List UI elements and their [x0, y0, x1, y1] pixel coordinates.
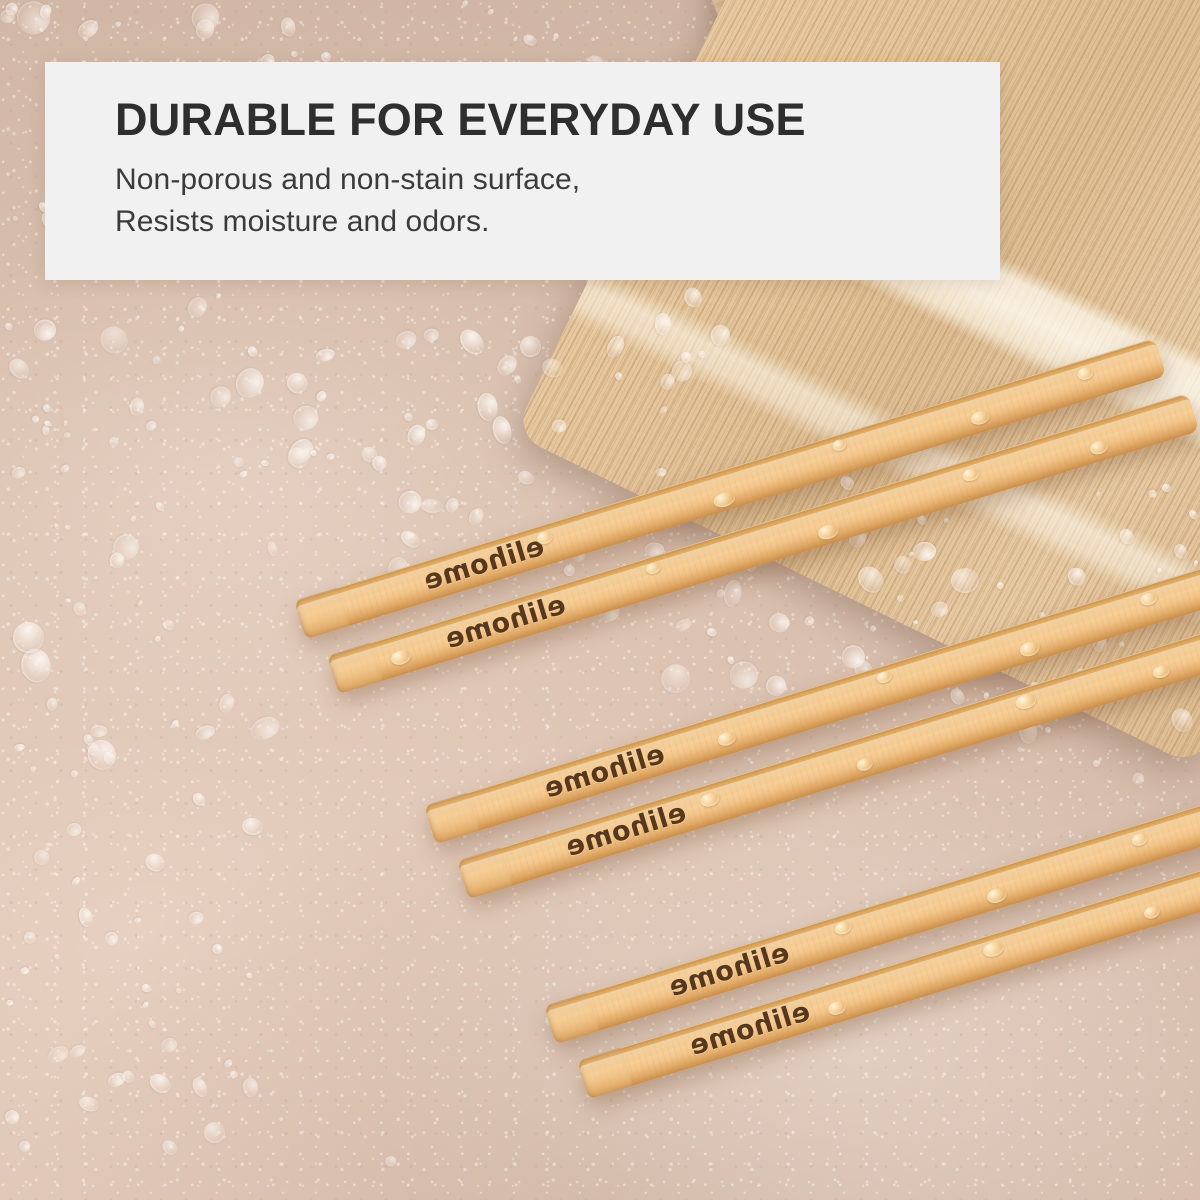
water-bead [985, 886, 1008, 905]
water-bead [969, 409, 991, 427]
water-droplet [710, 325, 729, 347]
water-bead [1151, 664, 1171, 680]
water-bead [712, 490, 737, 510]
water-bead [816, 522, 840, 542]
water-bead [716, 730, 737, 748]
water-bead [827, 999, 848, 1017]
water-bead [1088, 439, 1109, 457]
water-droplet [478, 588, 483, 594]
water-droplet [234, 457, 244, 467]
water-droplet [65, 598, 71, 602]
water-droplet [730, 661, 758, 688]
feature-description-line-1: Non-porous and non-stain surface, [115, 159, 1000, 200]
water-droplet [951, 568, 980, 593]
water-droplet [654, 312, 670, 334]
water-droplet [63, 420, 67, 426]
water-bead [855, 756, 874, 772]
water-bead [1018, 639, 1041, 658]
feature-text-panel: DURABLE FOR EVERYDAY USE Non-porous and … [45, 62, 1000, 280]
water-droplet [1017, 747, 1022, 752]
water-droplet [108, 436, 118, 447]
water-droplet [65, 524, 71, 530]
water-droplet [115, 21, 122, 26]
water-droplet [46, 697, 57, 710]
feature-description: Non-porous and non-stain surface, Resist… [115, 159, 1000, 242]
water-droplet [229, 1070, 238, 1078]
water-droplet [291, 50, 299, 57]
feature-description-line-2: Resists moisture and odors. [115, 201, 1000, 242]
product-feature-image: elihome elihome elihome elihome [0, 0, 1200, 1200]
page-title: DURABLE FOR EVERYDAY USE [115, 96, 1000, 143]
water-droplet [425, 418, 437, 429]
water-bead [1142, 904, 1161, 920]
